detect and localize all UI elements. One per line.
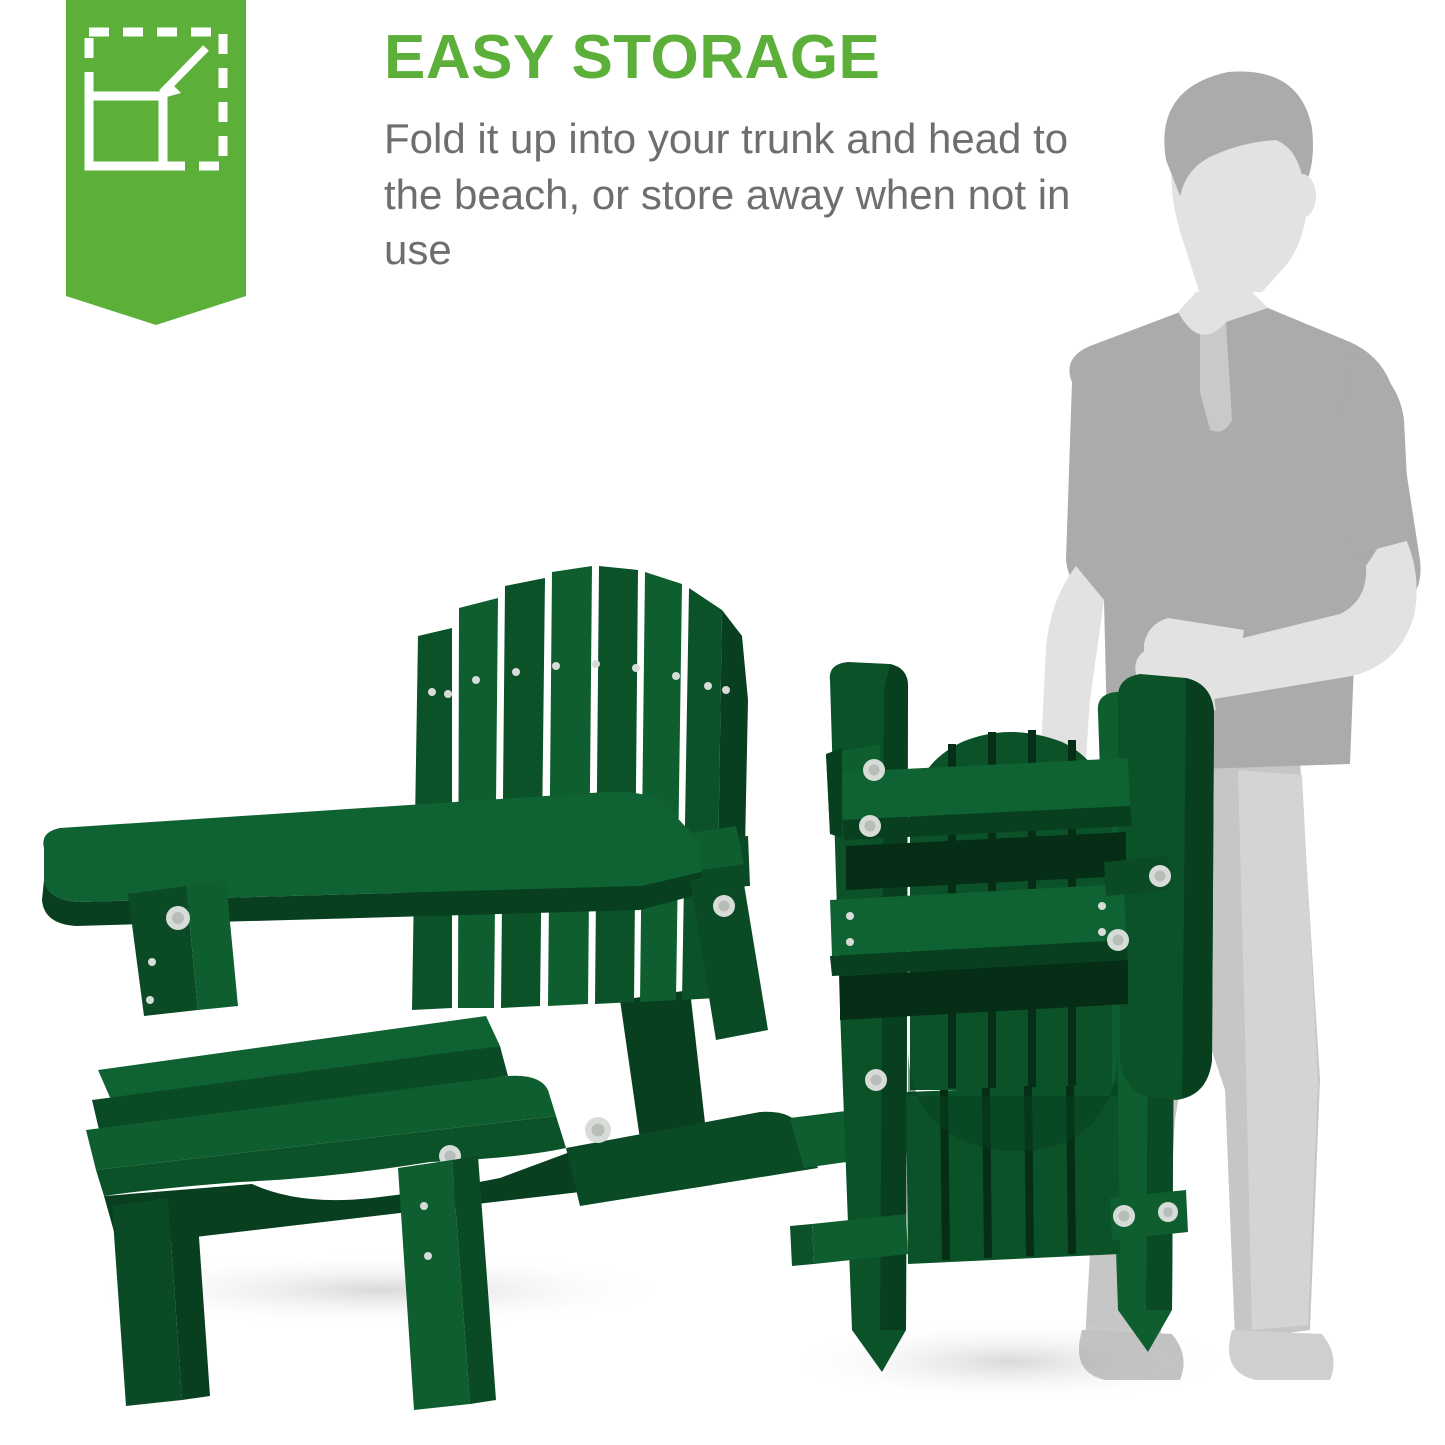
feature-banner [66, 0, 246, 325]
page-title: EASY STORAGE [384, 26, 1084, 89]
chair-front-leg-left [112, 1198, 182, 1406]
chair-back-slats [412, 566, 748, 1010]
chair-front-leg-right [398, 1160, 470, 1410]
floor-shadow-left [80, 1252, 680, 1328]
feature-description: Fold it up into your trunk and head to t… [384, 111, 1074, 277]
chair-unfolded [42, 548, 1036, 1410]
folded-seat-slats [906, 1084, 1120, 1264]
floor-shadow-right [780, 1320, 1240, 1404]
product-feature-card: EASY STORAGE Fold it up into your trunk … [0, 0, 1445, 1445]
feature-copy-block: EASY STORAGE Fold it up into your trunk … [384, 26, 1084, 278]
folded-back-fan [910, 730, 1112, 1090]
hand-upper [1135, 618, 1244, 714]
chair-armrest-left [43, 792, 702, 902]
folded-arm-right [1118, 674, 1214, 1100]
chair-folded [790, 662, 1214, 1372]
chair-back-screws [428, 660, 730, 698]
